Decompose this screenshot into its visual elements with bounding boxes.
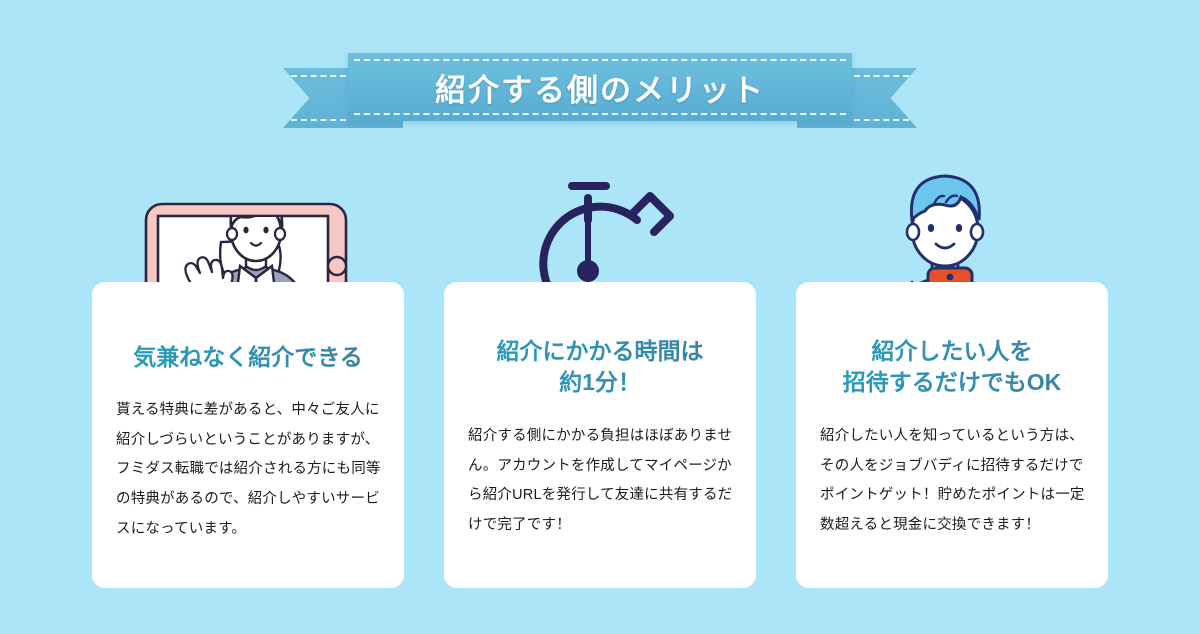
benefit-card-3[interactable]: 紹介したい人を 招待するだけでもOK 紹介したい人を知っているという方は、その人… bbox=[796, 282, 1108, 588]
benefit-card-3-body: 紹介したい人を知っているという方は、その人をジョブバディに招待するだけでポイント… bbox=[820, 422, 1086, 541]
benefit-card-2-body: 紹介する側にかかる負担はほぼありません。アカウントを作成してマイページから紹介U… bbox=[468, 422, 734, 541]
benefit-card-1-title: 気兼ねなく紹介できる bbox=[106, 342, 390, 373]
page-root: 紹介する側のメリット bbox=[0, 0, 1200, 634]
benefit-cards: 気兼ねなく紹介できる 貰える特典に差があると、中々ご友人に紹介しづらいということ… bbox=[0, 0, 1200, 634]
benefit-card-2[interactable]: 紹介にかかる時間は 約1分！ 紹介する側にかかる負担はほぼありません。アカウント… bbox=[444, 282, 756, 588]
benefit-card-1[interactable]: 気兼ねなく紹介できる 貰える特典に差があると、中々ご友人に紹介しづらいということ… bbox=[92, 282, 404, 588]
benefit-card-3-title: 紹介したい人を 招待するだけでもOK bbox=[810, 336, 1094, 397]
benefit-card-2-title: 紹介にかかる時間は 約1分！ bbox=[458, 336, 742, 397]
benefit-card-1-body: 貰える特典に差があると、中々ご友人に紹介しづらいということがありますが、フミダス… bbox=[116, 396, 382, 545]
